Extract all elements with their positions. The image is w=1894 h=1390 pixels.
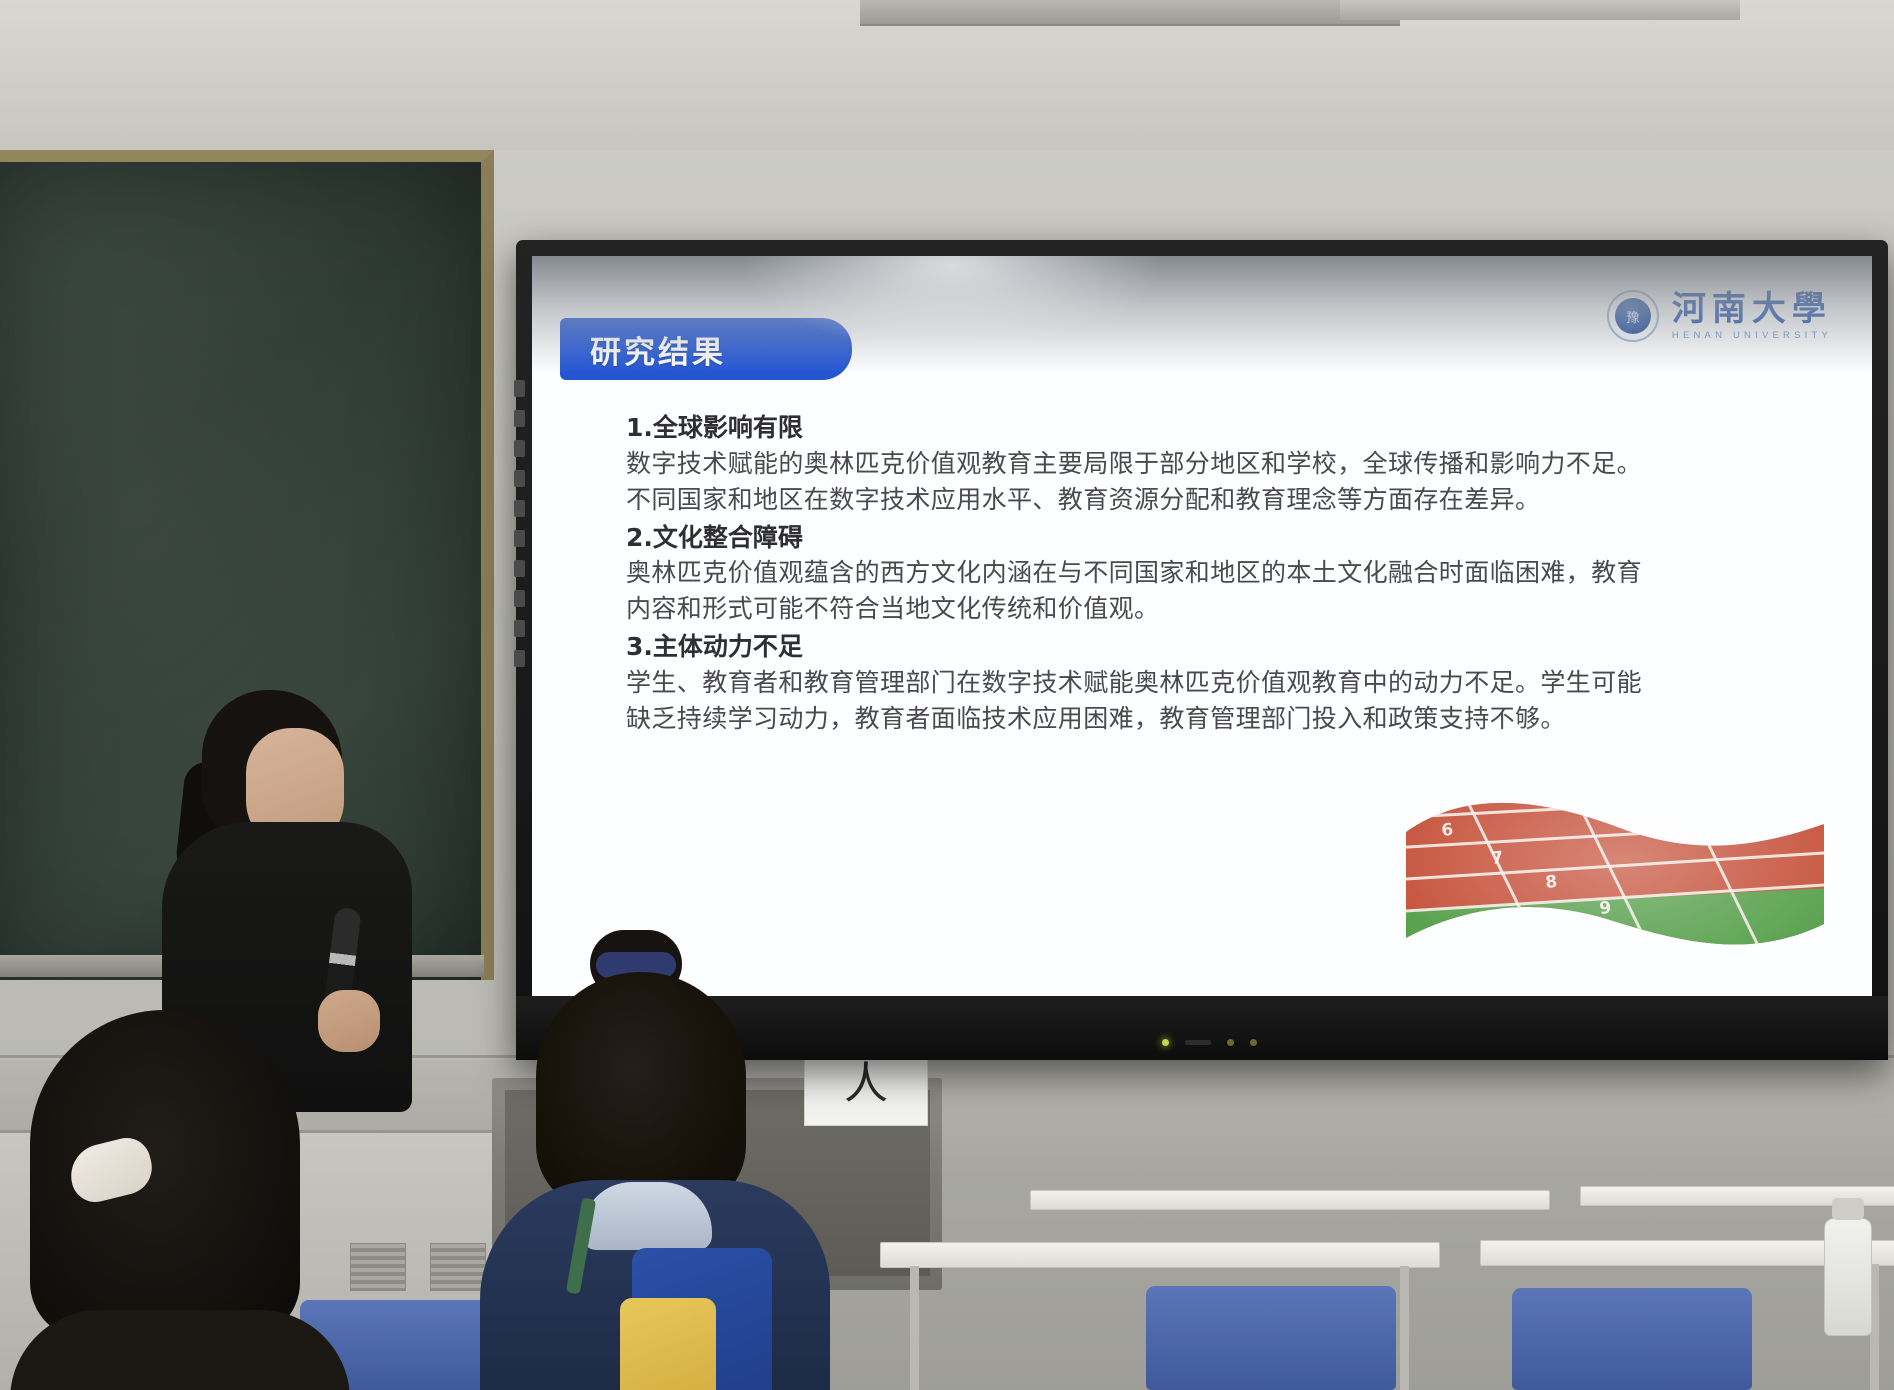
slide-title: 研究结果 (590, 327, 726, 372)
logo-name-cn: 河南大學 (1672, 292, 1832, 326)
svg-text:8: 8 (1544, 872, 1558, 893)
cabinet-vent (350, 1243, 406, 1291)
student-desk (880, 1242, 1440, 1268)
student-hair (536, 972, 746, 1212)
display-screen[interactable]: 研究结果 豫 河南大學 HENAN UNIVERSITY 1.全球影响有限 数字… (532, 256, 1872, 996)
display-side-button[interactable] (514, 620, 525, 637)
water-bottle (1824, 1218, 1872, 1336)
display-side-button[interactable] (514, 440, 525, 457)
slide-content: 1.全球影响有限 数字技术赋能的奥林匹克价值观教育主要局限于部分地区和学校，全球… (626, 408, 1824, 737)
student-shoulders (10, 1310, 350, 1390)
university-seal-icon: 豫 (1607, 290, 1659, 342)
logo-wordmark: 河南大學 HENAN UNIVERSITY (1672, 292, 1832, 341)
svg-text:7: 7 (1490, 848, 1504, 869)
classroom-scene: 教书育人 人 (0, 0, 1894, 1390)
svg-text:6: 6 (1440, 820, 1454, 841)
display-status-leds (1162, 1039, 1257, 1046)
ir-sensor-icon (1185, 1040, 1211, 1045)
classroom-chair (1146, 1286, 1396, 1390)
display-side-button[interactable] (514, 500, 525, 517)
presenter-hand (318, 990, 380, 1052)
desk-leg (1400, 1266, 1409, 1390)
display-side-button[interactable] (514, 650, 525, 667)
display-side-button[interactable] (514, 590, 525, 607)
display-side-button[interactable] (514, 560, 525, 577)
student-foreground-left (30, 1010, 320, 1390)
classroom-wall-upper (0, 0, 1894, 175)
track-svg: 6 7 8 9 (1400, 792, 1830, 970)
display-side-button[interactable] (514, 530, 525, 547)
presentation-slide: 研究结果 豫 河南大學 HENAN UNIVERSITY 1.全球影响有限 数字… (532, 256, 1872, 996)
classroom-chair (1512, 1288, 1752, 1390)
section-body-1: 数字技术赋能的奥林匹克价值观教育主要局限于部分地区和学校，全球传播和影响力不足。… (626, 446, 1656, 518)
section-heading-3: 3.主体动力不足 (626, 629, 1824, 665)
display-side-button[interactable] (514, 470, 525, 487)
student-foreground-center (512, 930, 832, 1390)
display-side-button[interactable] (514, 380, 525, 397)
status-led-icon (1227, 1039, 1234, 1046)
university-logo: 豫 河南大學 HENAN UNIVERSITY (1607, 290, 1832, 342)
student-collar (582, 1182, 712, 1250)
seal-inner-glyph: 豫 (1615, 298, 1651, 334)
display-side-button[interactable] (514, 410, 525, 427)
tote-bag (620, 1298, 716, 1390)
display-side-buttons[interactable] (514, 380, 528, 680)
logo-name-en: HENAN UNIVERSITY (1672, 330, 1832, 341)
placard-title: 人 (844, 1062, 888, 1106)
ceiling-beam-secondary (1340, 0, 1740, 20)
water-bottle-cap (1832, 1198, 1864, 1220)
status-led-icon (1250, 1039, 1257, 1046)
desk-leg (910, 1266, 919, 1390)
ceiling-beam (860, 0, 1400, 26)
section-heading-1: 1.全球影响有限 (626, 410, 1824, 446)
section-body-2: 奥林匹克价值观蕴含的西方文化内涵在与不同国家和地区的本土文化融合时面临困难，教育… (626, 555, 1656, 627)
power-led-icon (1162, 1039, 1169, 1046)
student-desk (1030, 1190, 1550, 1210)
svg-text:9: 9 (1598, 898, 1612, 919)
section-body-3: 学生、教育者和教育管理部门在数字技术赋能奥林匹克价值观教育中的动力不足。学生可能… (626, 665, 1656, 737)
slide-title-banner: 研究结果 (560, 318, 852, 380)
section-heading-2: 2.文化整合障碍 (626, 520, 1824, 556)
cabinet-vent (430, 1243, 486, 1291)
running-track-illustration: 6 7 8 9 (1400, 792, 1830, 970)
